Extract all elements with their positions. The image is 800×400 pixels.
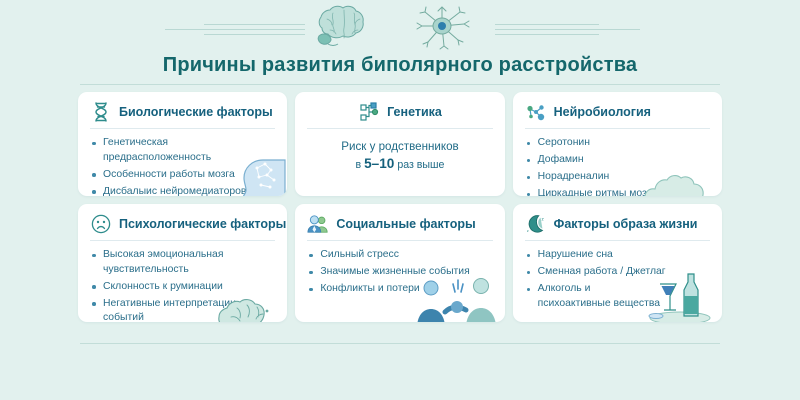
list-item: Циркадные ритмы мозга <box>525 187 710 196</box>
list-item: Дисбалыис нейромедиаторов <box>90 185 275 196</box>
card-header: z z Факторы образа жизни <box>525 213 710 241</box>
card-title: Нейробиология <box>554 105 651 119</box>
card-header: Социальные факторы <box>307 213 492 241</box>
card-psychological[interactable]: Психологические факторы Высокая эмоциона… <box>78 204 287 322</box>
svg-text:z: z <box>526 229 528 233</box>
pedigree-icon <box>358 101 380 123</box>
list-item: Нарушение сна <box>525 248 710 263</box>
bullet-list: Высокая эмоциональная чувствительность С… <box>90 248 275 322</box>
genetics-stat-line1: Риск у родственников <box>307 138 492 155</box>
card-header: Нейробиология <box>525 101 710 129</box>
card-lifestyle[interactable]: z z Факторы образа жизни Нарушение сна С… <box>513 204 722 322</box>
card-biological[interactable]: Биологические факторы Генетическая предр… <box>78 92 287 196</box>
moon-icon: z z <box>525 213 547 235</box>
card-title: Социальные факторы <box>336 217 475 231</box>
card-header: Психологические факторы <box>90 213 275 241</box>
list-item: Негативные интерпретации событий <box>90 297 275 322</box>
list-item: Высокая эмоциональная чувствительность <box>90 248 275 277</box>
list-item: Сменная работа / Джетлаг <box>525 265 710 280</box>
list-item: Алкоголь и психоактивные вещества <box>525 282 665 311</box>
card-title: Психологические факторы <box>119 217 286 231</box>
stat-prefix: в <box>356 159 365 171</box>
banner-rule-left <box>165 24 305 34</box>
banner-rule-right <box>495 24 640 34</box>
stat-value: 5–10 <box>364 156 394 171</box>
list-item: Сильный стресс <box>307 248 492 263</box>
list-item: Конфликты и потери <box>307 282 492 297</box>
list-item: Дофамин <box>525 153 710 168</box>
bullet-list: Серотонин Дофамин Норадреналин Циркадные… <box>525 136 710 196</box>
list-item: Серотонин <box>525 136 710 151</box>
card-social[interactable]: Социальные факторы Сильный стресс Значим… <box>295 204 504 322</box>
header-banner <box>0 0 800 52</box>
bullet-list: Нарушение сна Сменная работа / Джетлаг А… <box>525 248 710 311</box>
list-item: Особенности работы мозга <box>90 168 275 183</box>
card-genetics[interactable]: Генетика Риск у родственников в 5–10 раз… <box>295 92 504 196</box>
card-title: Генетика <box>387 105 442 119</box>
divider-top <box>80 84 720 85</box>
card-title: Факторы образа жизни <box>554 217 698 231</box>
card-neurobiology[interactable]: Нейробиология Серотонин Дофамин Норадрен… <box>513 92 722 196</box>
list-item: Значимые жизненные события <box>307 265 492 280</box>
neuron-illustration <box>392 2 492 50</box>
cards-grid: Биологические факторы Генетическая предр… <box>78 92 722 322</box>
card-header: Биологические факторы <box>90 101 275 129</box>
genetics-stat: Риск у родственников в 5–10 раз выше <box>307 138 492 174</box>
card-header: Генетика <box>307 101 492 129</box>
bullet-list: Сильный стресс Значимые жизненные событи… <box>307 248 492 297</box>
card-title: Биологические факторы <box>119 105 273 119</box>
list-item: Склонность к руминации <box>90 280 275 295</box>
list-item: Генетическая предрасположенность <box>90 136 275 165</box>
svg-text:z: z <box>541 216 544 221</box>
list-item: Норадреналин <box>525 170 710 185</box>
divider-bottom <box>80 343 720 344</box>
page-title: Причины развития биполярного расстройств… <box>0 54 800 77</box>
dna-icon <box>90 101 112 123</box>
brain-illustration <box>300 2 390 50</box>
bullet-list: Генетическая предрасположенность Особенн… <box>90 136 275 196</box>
molecule-icon <box>525 101 547 123</box>
stat-suffix: раз выше <box>394 159 444 171</box>
genetics-stat-line2: в 5–10 раз выше <box>307 155 492 174</box>
infographic-page: Причины развития биполярного расстройств… <box>0 0 800 400</box>
sad-face-icon <box>90 213 112 235</box>
two-people-icon <box>307 213 329 235</box>
